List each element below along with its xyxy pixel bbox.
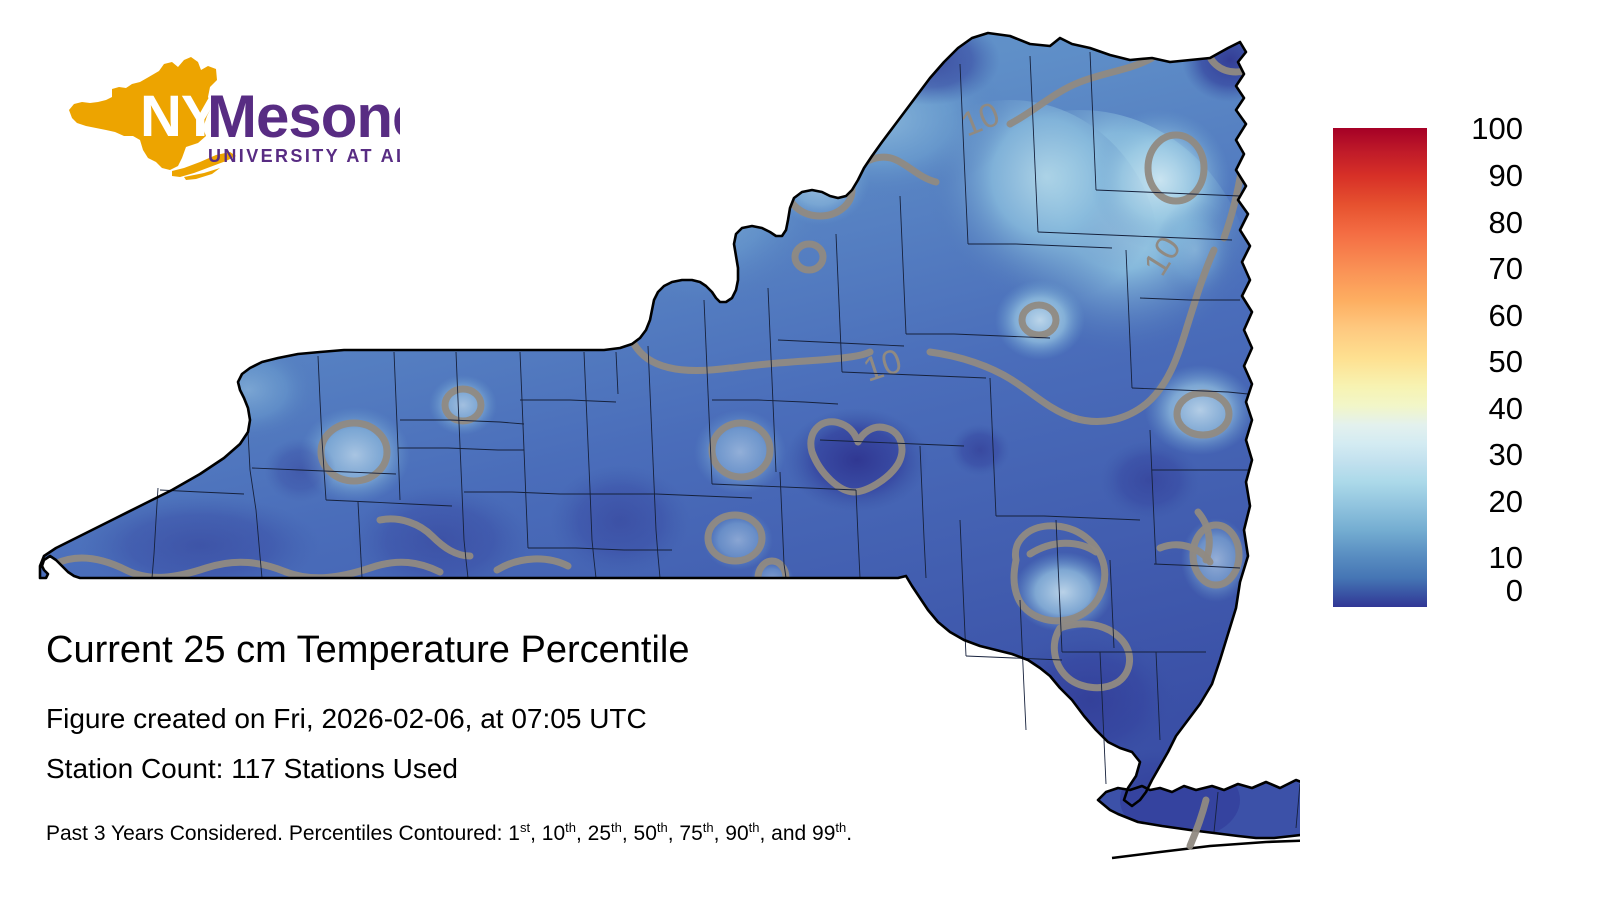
page-title: Current 25 cm Temperature Percentile [46,629,689,672]
colorbar-tick-80: 80 [1437,207,1523,238]
colorbar-tick-50: 50 [1437,346,1523,377]
colorbar-tick-30: 30 [1437,439,1523,470]
figure-root: NYS Mesonet UNIVERSITY AT ALBANY [0,0,1600,900]
colorbar [1333,128,1427,607]
colorbar-tick-20: 20 [1437,486,1523,517]
station-count-text: Station Count: 117 Stations Used [46,753,458,785]
colorbar-tick-70: 70 [1437,253,1523,284]
colorbar-tick-10: 10 [1437,542,1523,573]
colorbar-tick-40: 40 [1437,393,1523,424]
colorbar-tick-labels: 100 90 80 70 60 50 40 30 20 10 0 [1437,0,1557,890]
colorbar-tick-60: 60 [1437,300,1523,331]
colorbar-tick-100: 100 [1437,113,1523,144]
figure-created-text: Figure created on Fri, 2026-02-06, at 07… [46,703,647,735]
footnote-text: Past 3 Years Considered. Percentiles Con… [46,822,852,846]
colorbar-tick-90: 90 [1437,160,1523,191]
colorbar-gradient [1333,128,1427,607]
colorbar-tick-0: 0 [1437,575,1523,606]
